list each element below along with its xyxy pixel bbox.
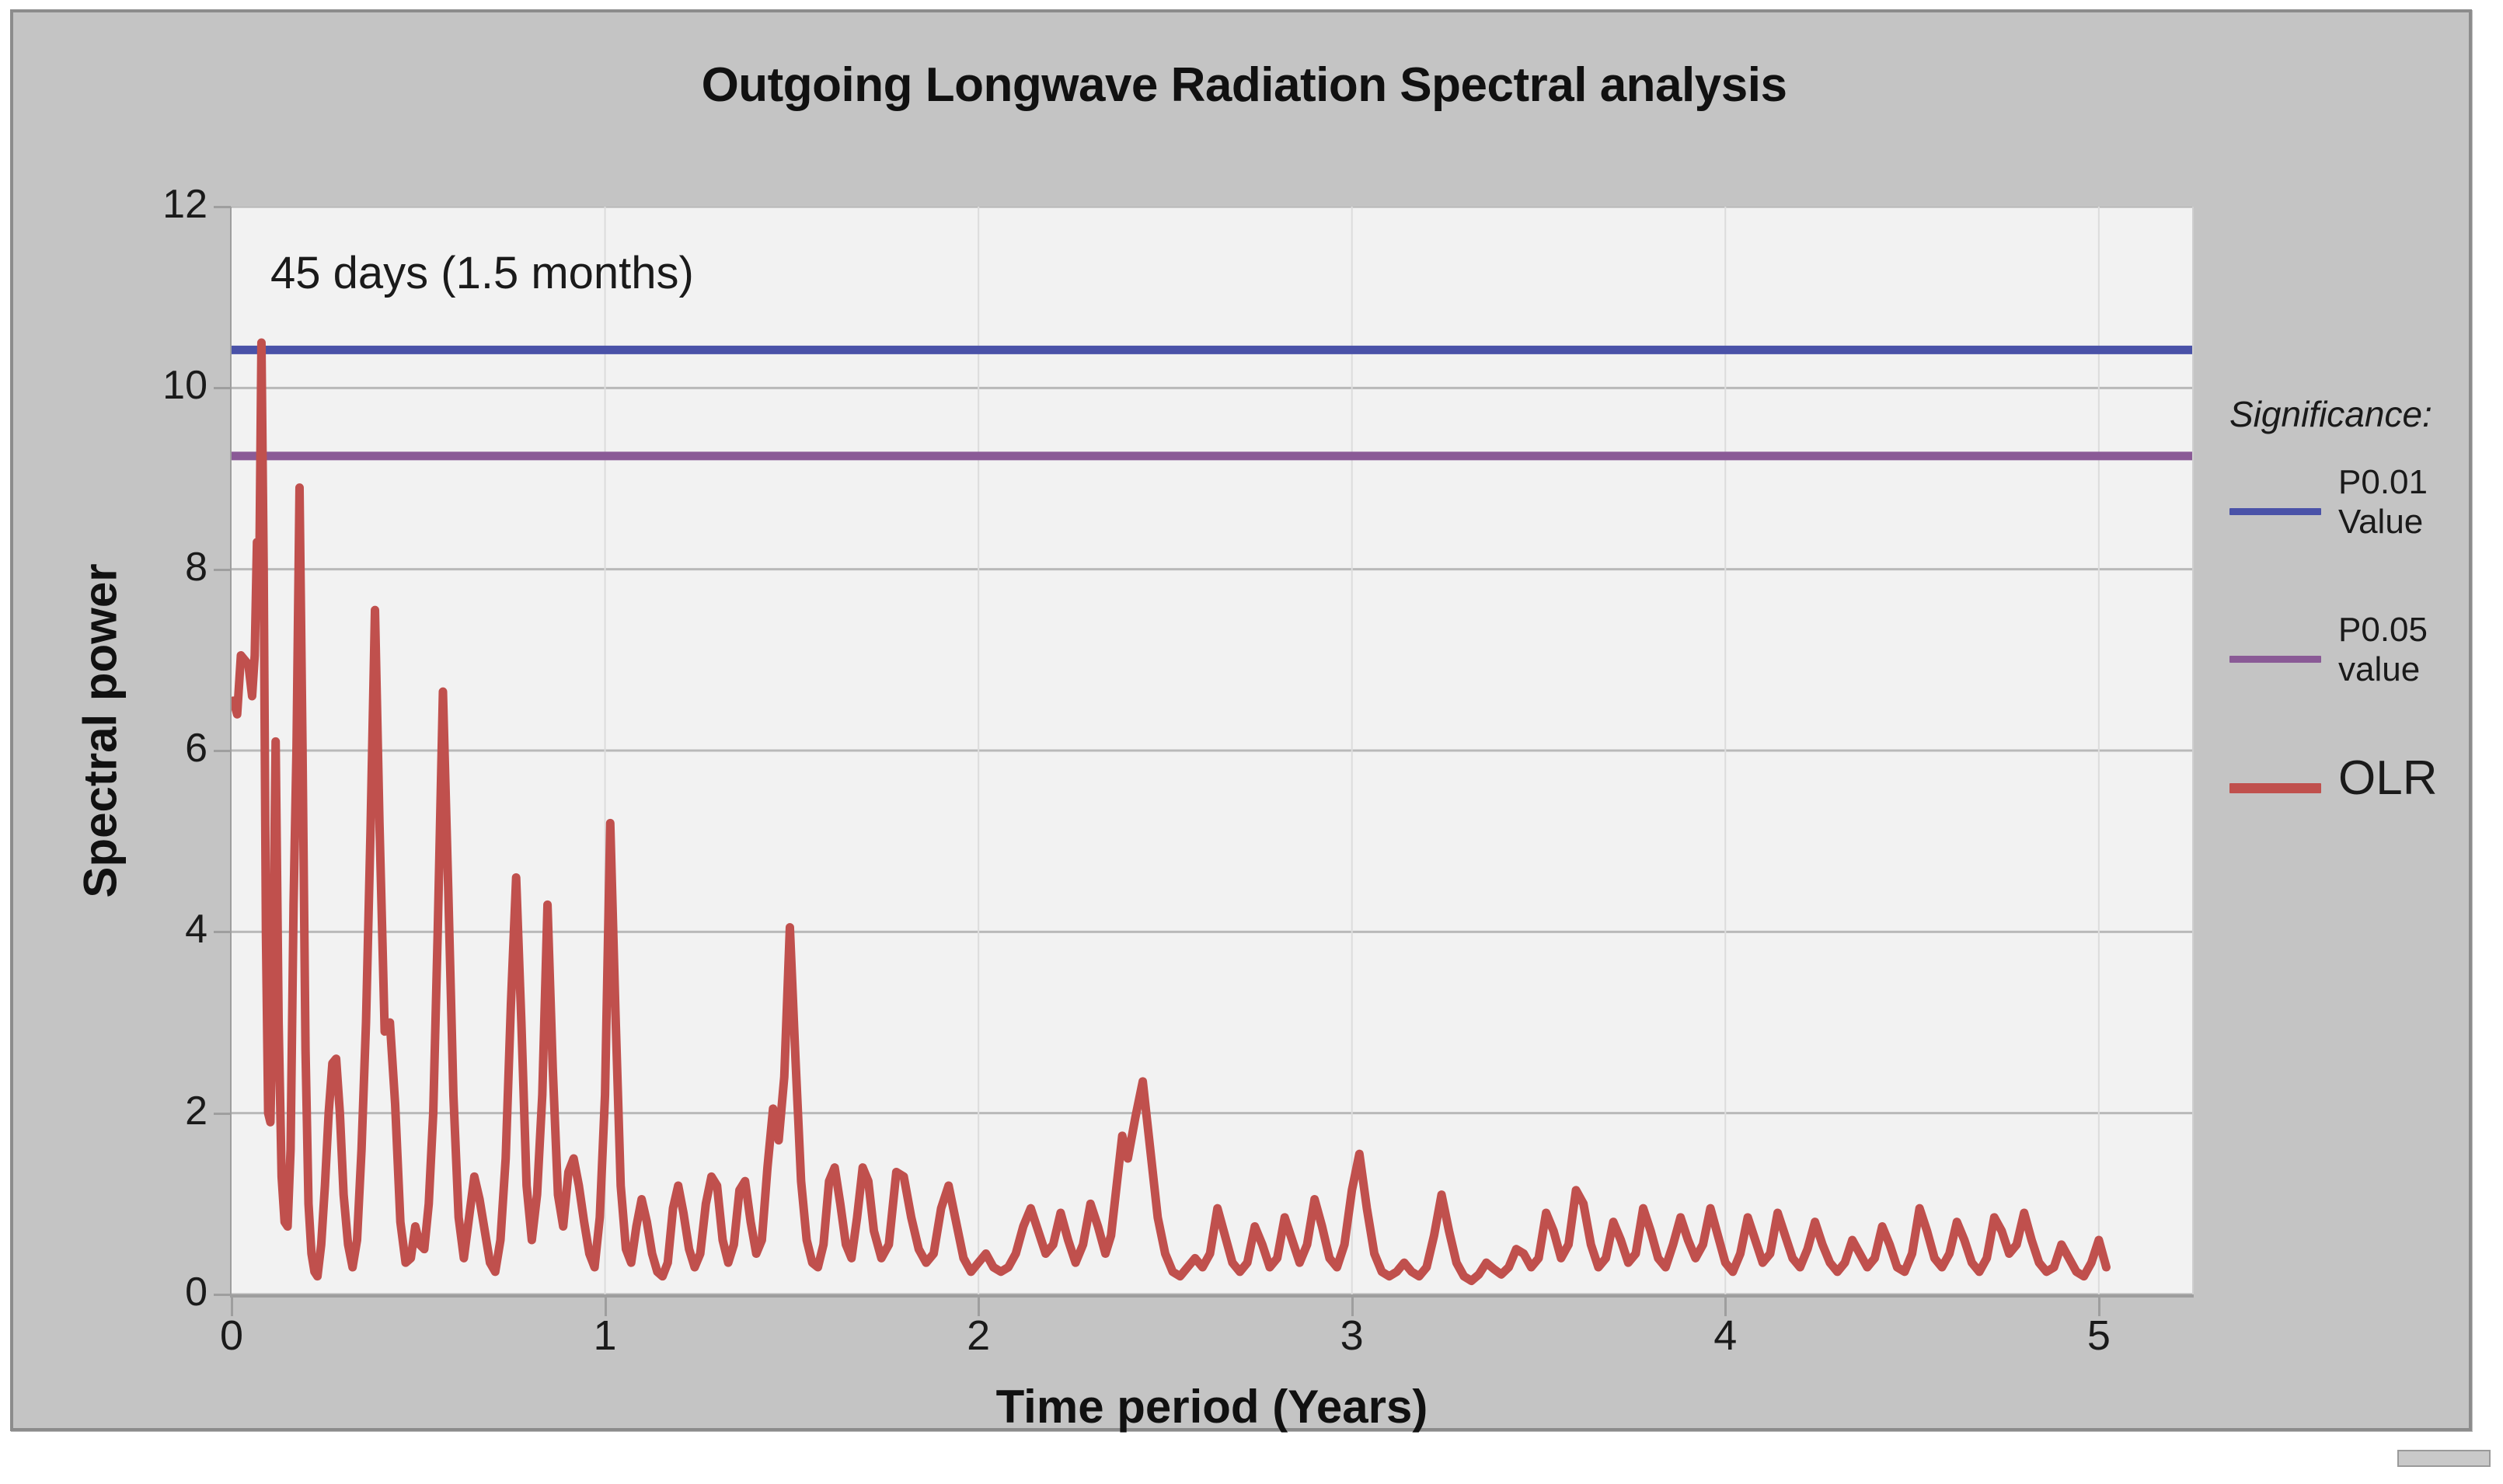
y-tick-label: 10: [106, 362, 207, 409]
x-axis-line: [230, 1294, 2194, 1298]
x-tick-mark: [605, 1298, 607, 1316]
x-tick-label: 0: [169, 1312, 294, 1360]
legend-heading: Significance:: [2229, 393, 2463, 435]
legend-item[interactable]: OLR: [2229, 751, 2463, 844]
x-tick-mark: [978, 1298, 980, 1316]
y-tick-mark: [214, 750, 231, 752]
legend-label: P0.01Value: [2338, 463, 2486, 542]
legend-items: P0.01ValueP0.05valueOLR: [2229, 463, 2463, 844]
series-line-olr: [233, 343, 2106, 1281]
legend-swatch-p0-01: [2229, 508, 2321, 515]
y-tick-label: 12: [106, 181, 207, 228]
chart-legend: Significance: P0.01ValueP0.05valueOLR: [2229, 393, 2463, 864]
chart-title: Outgoing Longwave Radiation Spectral ana…: [13, 57, 2475, 113]
x-axis-title: Time period (Years): [232, 1380, 2192, 1433]
legend-item[interactable]: P0.01Value: [2229, 463, 2463, 556]
x-tick-mark: [1724, 1298, 1727, 1316]
plot-svg: [232, 207, 2192, 1294]
legend-swatch-p0-05: [2229, 656, 2321, 663]
y-tick-mark: [214, 387, 231, 389]
y-tick-mark: [214, 569, 231, 571]
x-tick-label: 3: [1290, 1312, 1414, 1360]
x-tick-label: 1: [543, 1312, 668, 1360]
y-tick-label: 2: [106, 1088, 207, 1134]
x-tick-label: 4: [1663, 1312, 1787, 1360]
x-tick-mark: [2098, 1298, 2100, 1316]
y-tick-mark: [214, 206, 231, 208]
x-tick-mark: [231, 1298, 233, 1316]
resize-handle[interactable]: [2397, 1450, 2491, 1467]
legend-label: P0.05value: [2338, 611, 2486, 689]
y-tick-mark: [214, 1294, 231, 1296]
plot-area: 45 days (1.5 months): [232, 207, 2194, 1294]
x-tick-mark: [1351, 1298, 1354, 1316]
y-axis-title: Spectral power: [74, 459, 127, 1003]
y-tick-mark: [214, 1113, 231, 1115]
legend-item[interactable]: P0.05value: [2229, 611, 2463, 704]
legend-swatch-olr: [2229, 783, 2321, 793]
x-tick-label: 2: [916, 1312, 1041, 1360]
chart-container: Outgoing Longwave Radiation Spectral ana…: [10, 9, 2472, 1431]
legend-label: OLR: [2338, 751, 2486, 806]
annotation-45-days: 45 days (1.5 months): [270, 247, 694, 299]
y-tick-mark: [214, 931, 231, 933]
x-tick-label: 5: [2037, 1312, 2161, 1360]
y-tick-label: 0: [106, 1269, 207, 1315]
